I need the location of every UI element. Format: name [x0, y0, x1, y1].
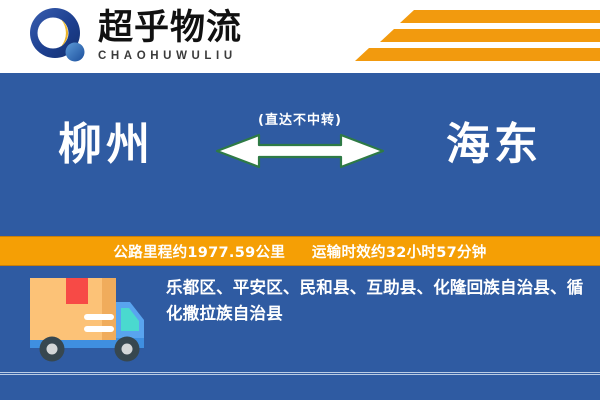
banner-header: 超乎物流 CHAOHUWULIU: [0, 0, 600, 73]
brand-logo: 超乎物流 CHAOHUWULIU: [28, 6, 242, 68]
stripe-2: [380, 29, 600, 42]
decorative-stripes: [340, 8, 600, 68]
footer-divider-inner: [0, 373, 600, 374]
coverage-section: 乐都区、平安区、民和县、互助县、化隆回族自治县、循化撒拉族自治县: [0, 266, 600, 400]
direct-route-note: (直达不中转): [195, 113, 405, 129]
brand-name-cn: 超乎物流: [98, 10, 242, 48]
road-distance-text: 公路里程约1977.59公里: [113, 245, 285, 261]
distance-duration-bar: 公路里程约1977.59公里 运输时效约32小时57分钟: [0, 236, 600, 266]
destination-city: 海东: [446, 123, 542, 167]
stripe-1: [400, 10, 600, 23]
coverage-areas-text: 乐都区、平安区、民和县、互助县、化隆回族自治县、循化撒拉族自治县: [166, 275, 590, 326]
infobar-content: 公路里程约1977.59公里 运输时效约32小时57分钟: [113, 241, 486, 262]
circle-crescent-logo-icon: [28, 6, 90, 68]
route-arrow-group: (直达不中转) 【往返运输】: [195, 113, 405, 170]
double-headed-arrow-icon: [215, 132, 385, 170]
brand-text: 超乎物流 CHAOHUWULIU: [98, 10, 242, 64]
transit-duration-text: 运输时效约32小时57分钟: [312, 245, 487, 261]
stripe-3: [355, 48, 600, 61]
footer-divider: [0, 372, 600, 375]
route-section: 柳州 (直达不中转) 【往返运输】 海东: [0, 73, 600, 236]
delivery-truck-icon: [26, 274, 151, 370]
logistics-route-banner: 超乎物流 CHAOHUWULIU 柳州 (直达不中转) 【往返运输】 海东 公路…: [0, 0, 600, 400]
brand-name-en: CHAOHUWULIU: [98, 50, 242, 64]
origin-city: 柳州: [58, 123, 154, 167]
